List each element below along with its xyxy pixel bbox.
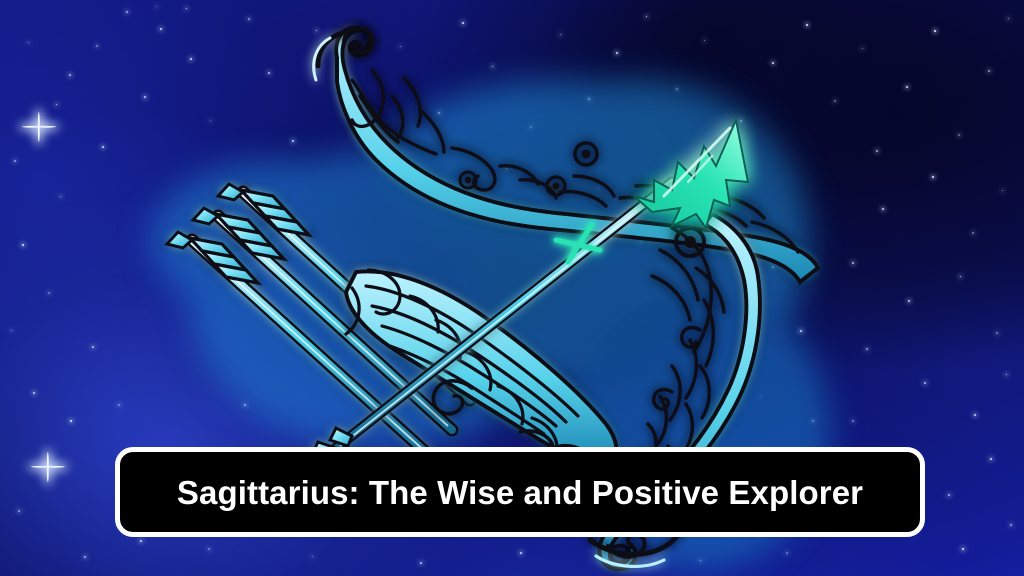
sagittarius-zodiac-image: Sagittarius: The Wise and Positive Explo…	[0, 0, 1024, 576]
caption-banner: Sagittarius: The Wise and Positive Explo…	[115, 447, 925, 537]
caption-text: Sagittarius: The Wise and Positive Explo…	[177, 476, 863, 509]
